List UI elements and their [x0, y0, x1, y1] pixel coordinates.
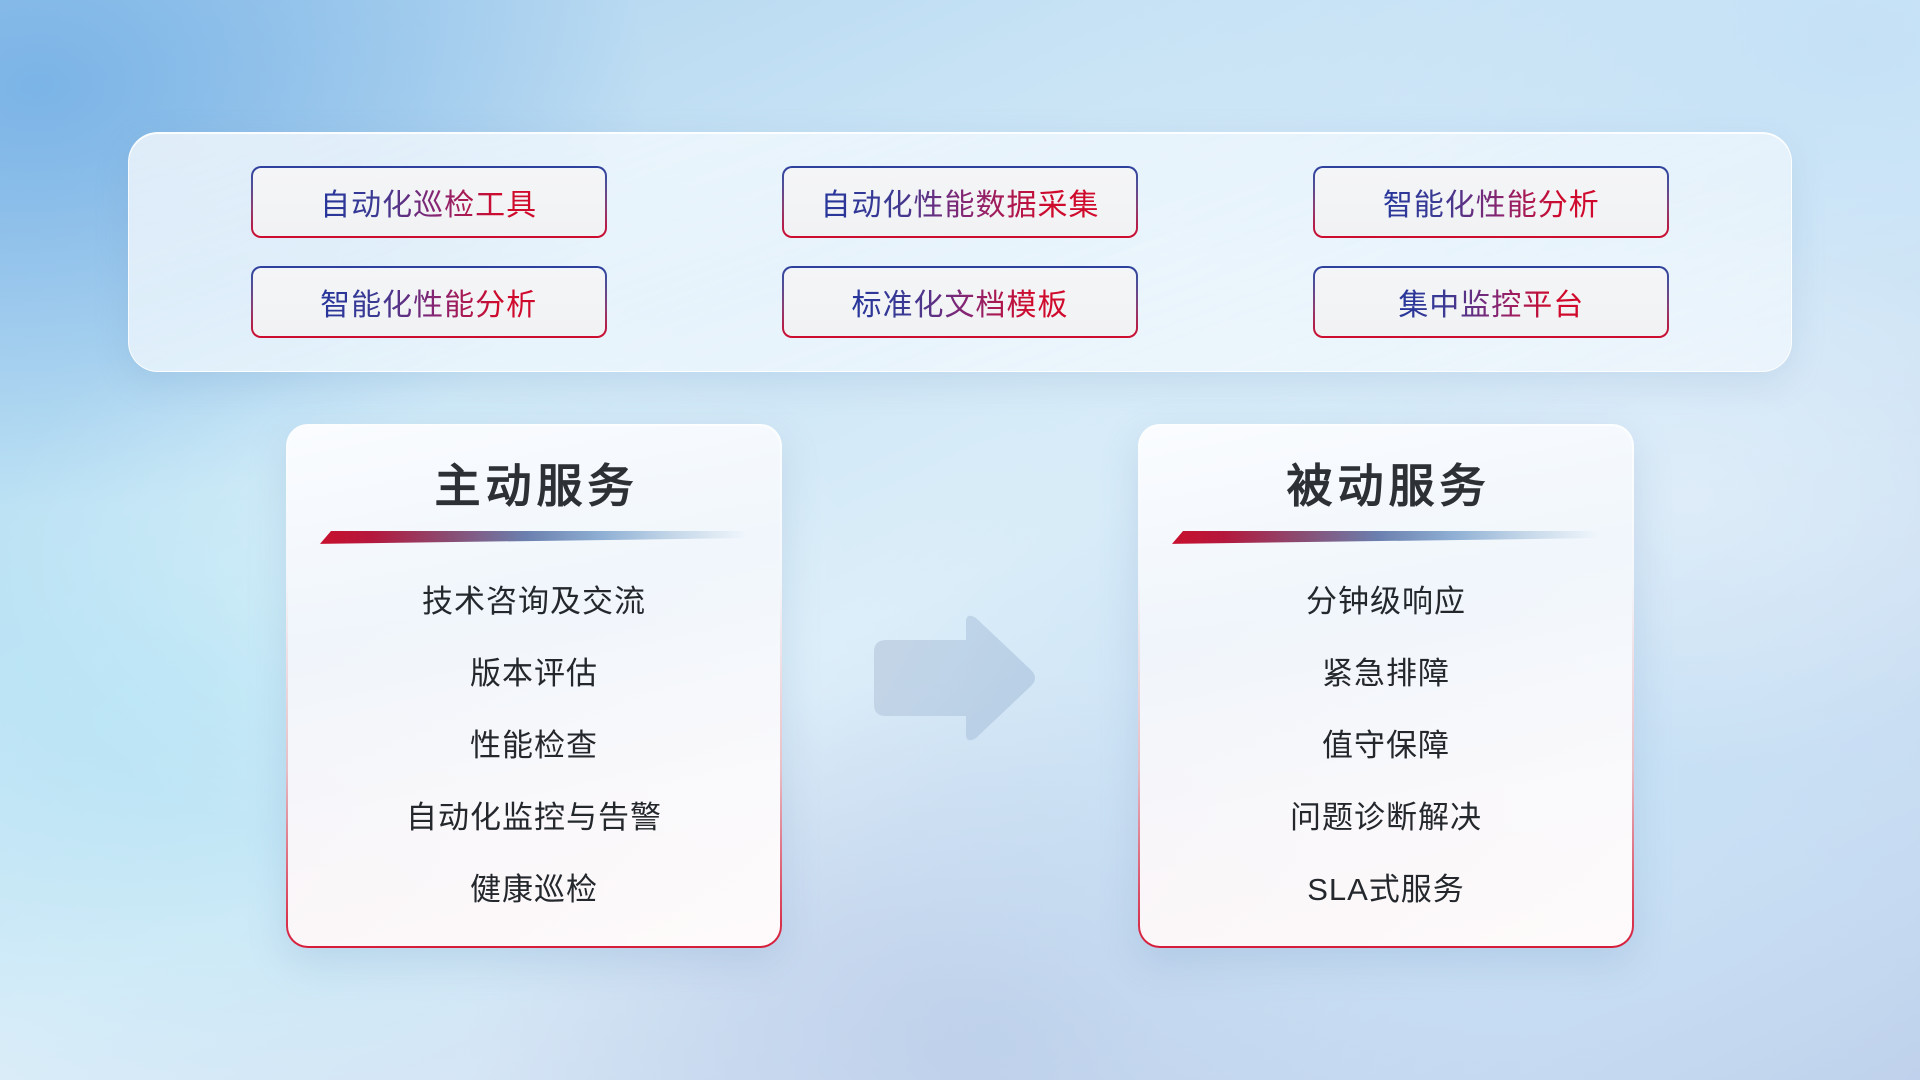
capability-pill-smart-perf-analysis-2[interactable]: 智能化性能分析: [251, 266, 607, 338]
card-title: 被动服务: [1282, 460, 1491, 513]
title-divider: [320, 531, 748, 544]
card-surface: 主动服务 技术咨询及交流 版本评估 性能检查 自动化监控与告警 健康巡检: [288, 426, 780, 946]
pill-surface: 智能化性能分析: [253, 268, 605, 336]
service-list-item: 健康巡检: [470, 854, 598, 926]
pill-label: 智能化性能分析: [1383, 180, 1600, 224]
pill-label: 标准化文档模板: [851, 280, 1068, 324]
card-surface: 被动服务 分钟级响应 紧急排障 值守保障 问题诊断解决 SLA式服务: [1140, 426, 1632, 946]
pill-surface: 自动化巡检工具: [253, 168, 605, 236]
service-list-item: 技术咨询及交流: [422, 566, 646, 638]
pill-label: 自动化巡检工具: [320, 180, 537, 224]
pill-label: 集中监控平台: [1398, 280, 1584, 324]
pill-surface: 智能化性能分析: [1315, 168, 1667, 236]
pill-surface: 自动化性能数据采集: [784, 168, 1136, 236]
service-list-item: 紧急排障: [1322, 638, 1450, 710]
capability-pill-auto-perf-data[interactable]: 自动化性能数据采集: [782, 166, 1138, 238]
title-divider: [1172, 531, 1600, 544]
capability-pill-auto-inspection-tool[interactable]: 自动化巡检工具: [251, 166, 607, 238]
service-list-item: 性能检查: [470, 710, 598, 782]
service-list-item: 版本评估: [470, 638, 598, 710]
pill-surface: 集中监控平台: [1315, 268, 1667, 336]
service-item-list: 技术咨询及交流 版本评估 性能检查 自动化监控与告警 健康巡检: [288, 566, 780, 926]
capability-pill-central-monitor-platform[interactable]: 集中监控平台: [1313, 266, 1669, 338]
service-list-item: SLA式服务: [1307, 854, 1465, 926]
service-item-list: 分钟级响应 紧急排障 值守保障 问题诊断解决 SLA式服务: [1140, 566, 1632, 926]
service-list-item: 问题诊断解决: [1290, 782, 1482, 854]
service-card-passive[interactable]: 被动服务 分钟级响应 紧急排障 值守保障 问题诊断解决 SLA式服务: [1138, 424, 1634, 948]
service-list-item: 分钟级响应: [1306, 566, 1466, 638]
pill-surface: 标准化文档模板: [784, 268, 1136, 336]
card-title: 主动服务: [430, 460, 639, 513]
service-list-item: 自动化监控与告警: [406, 782, 662, 854]
service-card-active[interactable]: 主动服务 技术咨询及交流 版本评估 性能检查 自动化监控与告警 健康巡检: [286, 424, 782, 948]
pill-label: 智能化性能分析: [320, 280, 537, 324]
capability-pill-standard-doc-template[interactable]: 标准化文档模板: [782, 266, 1138, 338]
service-list-item: 值守保障: [1322, 710, 1450, 782]
capability-panel: 自动化巡检工具 自动化性能数据采集 智能化性能分析 智能化性能分析 标准化文档模…: [128, 132, 1792, 372]
right-arrow-icon: [868, 612, 1038, 744]
capability-pill-smart-perf-analysis-1[interactable]: 智能化性能分析: [1313, 166, 1669, 238]
pill-label: 自动化性能数据采集: [820, 180, 1099, 224]
